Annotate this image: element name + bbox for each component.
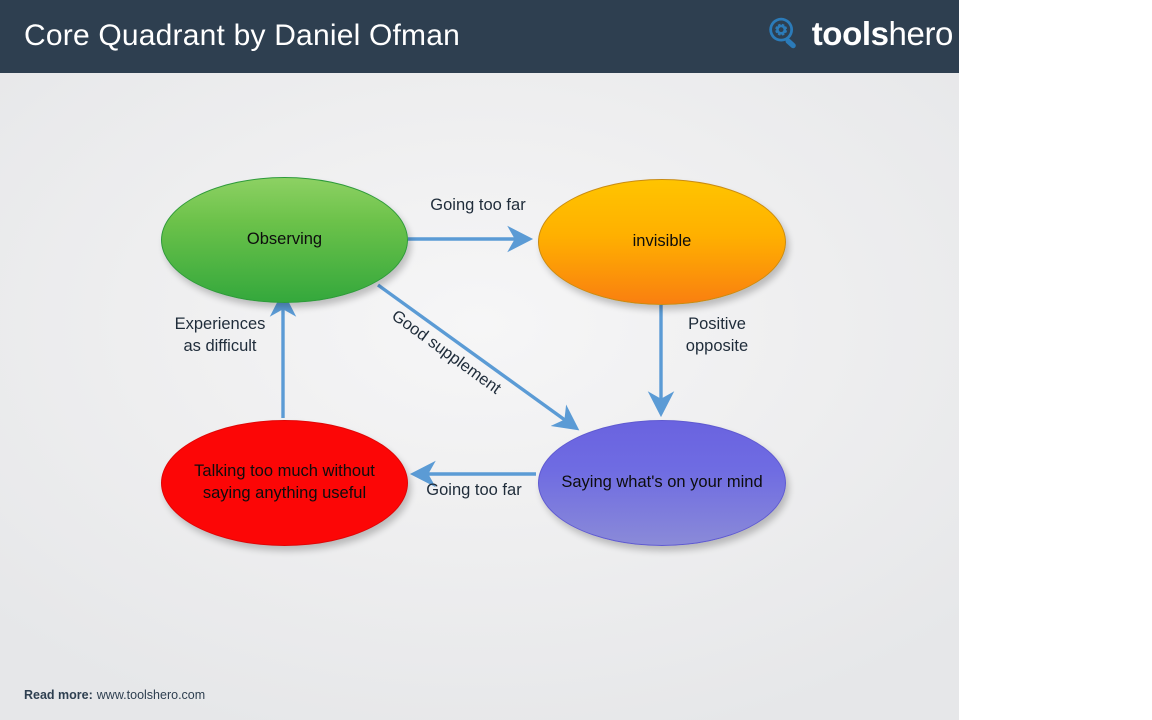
edge-label-going-too-far-bottom: Going too far [410,479,538,501]
node-talking-too-much[interactable]: Talking too much without saying anything… [161,420,408,546]
brand-word-hero: hero [889,15,953,52]
node-talking-too-much-label: Talking too much without saying anything… [162,461,407,505]
page-title: Core Quadrant by Daniel Ofman [24,19,460,53]
node-saying-whats-on-your-mind-label: Saying what's on your mind [547,472,776,494]
brand-logo[interactable]: toolshero [765,14,953,52]
edge-label-positive-opposite: Positive opposite [662,313,772,358]
footer-url[interactable]: www.toolshero.com [97,688,205,702]
edge-observing-to-saying [378,285,576,428]
slide-canvas: Core Quadrant by Daniel Ofman [0,0,959,720]
node-invisible-label: invisible [619,231,706,253]
magnifier-gear-icon [765,14,803,52]
node-saying-whats-on-your-mind[interactable]: Saying what's on your mind [538,420,786,546]
node-invisible[interactable]: invisible [538,179,786,305]
read-more-label: Read more: [24,688,93,702]
footer: Read more:www.toolshero.com [24,688,205,702]
brand-wordmark: toolshero [812,17,953,50]
core-quadrant-diagram: Observing invisible Talking too much wit… [0,73,959,653]
node-observing-label: Observing [233,229,336,251]
brand-word-tools: tools [812,15,889,52]
slide-header: Core Quadrant by Daniel Ofman [0,0,959,73]
node-observing[interactable]: Observing [161,177,408,303]
edge-label-experiences-as-difficult: Experiences as difficult [150,313,290,358]
edge-label-going-too-far-top: Going too far [418,194,538,216]
